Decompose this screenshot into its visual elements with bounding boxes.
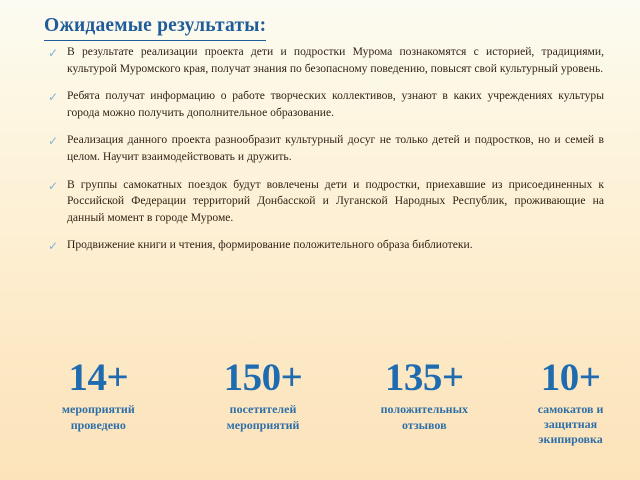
list-item: ✓ Реализация данного проекта разнообрази…: [48, 132, 604, 165]
checkmark-icon: ✓: [48, 177, 67, 195]
list-item: ✓ В группы самокатных поездок будут вовл…: [48, 177, 604, 227]
stat-value: 10+: [501, 356, 640, 400]
page-title: Ожидаемые результаты:: [44, 14, 266, 41]
stat-label: мероприятий проведено: [14, 402, 183, 433]
stat-value: 14+: [14, 356, 183, 400]
list-item-text: Продвижение книги и чтения, формирование…: [67, 237, 604, 254]
stat-label: положительных отзывов: [347, 402, 501, 433]
checkmark-icon: ✓: [48, 237, 67, 255]
stat-block: 10+ самокатов и защитная экипировка: [501, 356, 640, 447]
statistics-row: 14+ мероприятий проведено 150+ посетител…: [0, 356, 640, 447]
list-item: ✓ Продвижение книги и чтения, формирован…: [48, 237, 604, 255]
stat-label: посетителей мероприятий: [189, 402, 338, 433]
checkmark-icon: ✓: [48, 132, 67, 150]
list-item: ✓ В результате реализации проекта дети и…: [48, 44, 604, 77]
stat-block: 14+ мероприятий проведено: [14, 356, 183, 433]
checkmark-icon: ✓: [48, 88, 67, 106]
stat-block: 135+ положительных отзывов: [347, 356, 501, 433]
stat-label: самокатов и защитная экипировка: [501, 402, 640, 447]
bullet-list: ✓ В результате реализации проекта дети и…: [48, 44, 604, 266]
list-item-text: В результате реализации проекта дети и п…: [67, 44, 604, 77]
stat-value: 135+: [347, 356, 501, 400]
stat-value: 150+: [189, 356, 338, 400]
list-item-text: Реализация данного проекта разнообразит …: [67, 132, 604, 165]
checkmark-icon: ✓: [48, 44, 67, 62]
slide-canvas: Ожидаемые результаты: ✓ В результате реа…: [0, 0, 640, 480]
list-item: ✓ Ребята получат информацию о работе тво…: [48, 88, 604, 121]
stat-block: 150+ посетителей мероприятий: [189, 356, 338, 433]
title-block: Ожидаемые результаты:: [44, 14, 266, 41]
list-item-text: Ребята получат информацию о работе творч…: [67, 88, 604, 121]
list-item-text: В группы самокатных поездок будут вовлеч…: [67, 177, 604, 227]
